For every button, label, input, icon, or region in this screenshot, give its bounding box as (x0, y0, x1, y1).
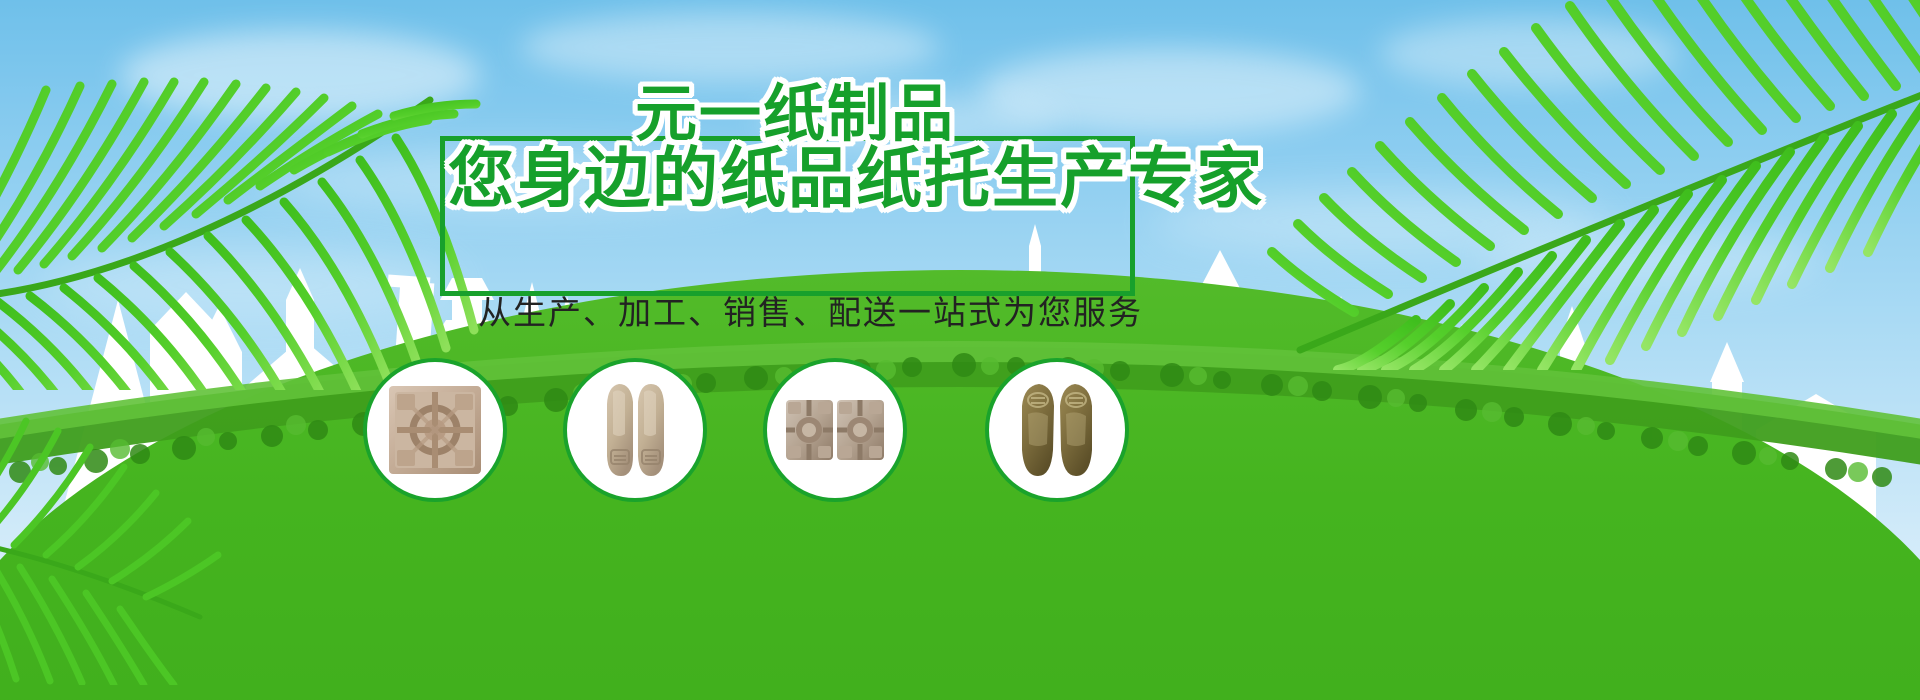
promo-banner: 元一纸制品 您身边的纸品纸托生产专家 从生产、加工、销售、配送一站式为您服务 (0, 0, 1920, 700)
product-circle[interactable] (985, 358, 1129, 502)
molded-pulp-double-tray-icon (783, 378, 887, 482)
molded-pulp-shoe-tree-pair-icon (583, 378, 687, 482)
product-circle[interactable] (563, 358, 707, 502)
molded-pulp-shoe-form-pair-icon (1005, 378, 1109, 482)
product-circle[interactable] (363, 358, 507, 502)
product-circle[interactable] (763, 358, 907, 502)
product-circle-row (0, 0, 1920, 700)
molded-pulp-square-tray-icon (383, 378, 487, 482)
